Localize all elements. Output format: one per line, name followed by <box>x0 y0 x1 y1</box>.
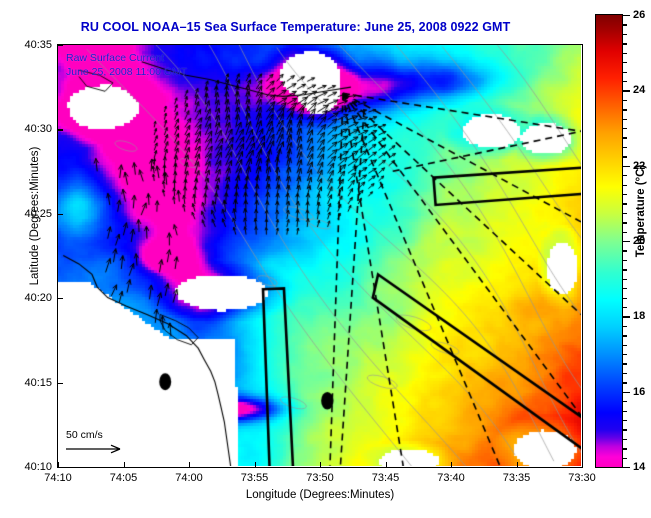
sst-figure: RU COOL NOAA–15 Sea Surface Temperature:… <box>0 0 651 518</box>
colorbar-minor-tick <box>623 90 627 91</box>
x-axis-tick <box>451 462 452 468</box>
colorbar-tick-label: 26 <box>633 9 645 21</box>
figure-title: RU COOL NOAA–15 Sea Surface Temperature:… <box>0 20 591 34</box>
x-axis-tick <box>582 462 583 468</box>
colorbar-minor-tick <box>623 279 627 280</box>
colorbar-minor-tick <box>623 260 627 261</box>
colorbar-minor-tick <box>623 213 627 214</box>
sst-raster <box>58 45 581 466</box>
y-axis-tick <box>57 467 63 468</box>
map-plot-area[interactable]: Raw Surface Current June 25, 2008 11:00 … <box>57 44 583 468</box>
vector-scale-label: 50 cm/s <box>64 429 128 441</box>
y-axis-tick <box>57 45 63 46</box>
x-axis-tick <box>517 462 518 468</box>
colorbar-minor-tick <box>623 109 627 110</box>
x-axis-tick-label: 73:50 <box>306 472 334 484</box>
y-axis-tick-label: 40:20 <box>24 292 52 304</box>
colorbar-minor-tick <box>623 81 627 82</box>
colorbar-minor-tick <box>623 62 627 63</box>
x-axis-tick <box>189 462 190 468</box>
colorbar <box>595 14 623 468</box>
colorbar-minor-tick <box>623 72 627 73</box>
colorbar-minor-tick <box>623 185 627 186</box>
colorbar-minor-tick <box>623 119 627 120</box>
colorbar-minor-tick <box>623 147 627 148</box>
colorbar-minor-tick <box>623 15 627 16</box>
colorbar-minor-tick <box>623 363 627 364</box>
current-stamp-line2: June 25, 2008 11:00 GMT <box>66 65 187 79</box>
x-axis-tick <box>124 462 125 468</box>
colorbar-minor-tick <box>623 203 627 204</box>
colorbar-minor-tick <box>623 128 627 129</box>
colorbar-label: Temperature (°C) <box>635 136 647 286</box>
colorbar-tick-label: 18 <box>633 310 645 322</box>
colorbar-minor-tick <box>623 24 627 25</box>
current-data-stamp: Raw Surface Current June 25, 2008 11:00 … <box>66 51 187 79</box>
colorbar-minor-tick <box>623 100 627 101</box>
x-axis-tick-label: 74:00 <box>175 472 203 484</box>
colorbar-minor-tick <box>623 307 627 308</box>
colorbar-tick-label: 14 <box>633 461 645 473</box>
x-axis-tick-label: 73:55 <box>241 472 269 484</box>
x-axis-tick-label: 73:45 <box>372 472 400 484</box>
sst-field-canvas-wrap <box>58 45 582 467</box>
colorbar-minor-tick <box>623 288 627 289</box>
colorbar-minor-tick <box>623 382 627 383</box>
y-axis-tick <box>57 129 63 130</box>
y-axis-tick-label: 40:10 <box>24 461 52 473</box>
colorbar-minor-tick <box>623 241 627 242</box>
colorbar-minor-tick <box>623 448 627 449</box>
colorbar-minor-tick <box>623 232 627 233</box>
y-axis-tick-label: 40:15 <box>24 377 52 389</box>
colorbar-minor-tick <box>623 326 627 327</box>
colorbar-minor-tick <box>623 137 627 138</box>
y-axis-tick <box>57 214 63 215</box>
colorbar-minor-tick <box>623 354 627 355</box>
colorbar-minor-tick <box>623 175 627 176</box>
x-axis-tick <box>320 462 321 468</box>
vector-scale-arrow-icon <box>64 442 128 455</box>
colorbar-minor-tick <box>623 420 627 421</box>
colorbar-minor-tick <box>623 250 627 251</box>
colorbar-minor-tick <box>623 392 627 393</box>
colorbar-minor-tick <box>623 298 627 299</box>
colorbar-minor-tick <box>623 467 627 468</box>
y-axis-tick-label: 40:30 <box>24 123 52 135</box>
colorbar-minor-tick <box>623 439 627 440</box>
x-axis-tick-label: 74:10 <box>44 472 72 484</box>
y-axis-tick <box>57 383 63 384</box>
colorbar-tick-label: 24 <box>633 84 645 96</box>
colorbar-minor-tick <box>623 458 627 459</box>
colorbar-minor-tick <box>623 401 627 402</box>
colorbar-minor-tick <box>623 34 627 35</box>
colorbar-minor-tick <box>623 411 627 412</box>
colorbar-minor-tick <box>623 269 627 270</box>
colorbar-minor-tick <box>623 373 627 374</box>
current-stamp-line1: Raw Surface Current <box>66 51 187 65</box>
colorbar-tick-label: 22 <box>633 160 645 172</box>
y-axis-tick-label: 40:35 <box>24 39 52 51</box>
x-axis-tick-label: 74:05 <box>110 472 138 484</box>
y-axis-tick <box>57 298 63 299</box>
x-axis-tick <box>386 462 387 468</box>
colorbar-minor-tick <box>623 53 627 54</box>
vector-scale-key: 50 cm/s <box>64 429 128 455</box>
colorbar-tick-label: 16 <box>633 386 645 398</box>
x-axis-tick-label: 73:40 <box>437 472 465 484</box>
colorbar-minor-tick <box>623 429 627 430</box>
colorbar-minor-tick <box>623 345 627 346</box>
x-axis-label: Longitude (Degrees:Minutes) <box>57 489 583 501</box>
colorbar-minor-tick <box>623 156 627 157</box>
x-axis-tick-label: 73:30 <box>568 472 596 484</box>
y-axis-tick-label: 40:25 <box>24 208 52 220</box>
colorbar-minor-tick <box>623 166 627 167</box>
colorbar-minor-tick <box>623 43 627 44</box>
colorbar-minor-tick <box>623 194 627 195</box>
x-axis-tick <box>255 462 256 468</box>
colorbar-minor-tick <box>623 335 627 336</box>
colorbar-minor-tick <box>623 316 627 317</box>
colorbar-tick-label: 20 <box>633 235 645 247</box>
colorbar-minor-tick <box>623 222 627 223</box>
x-axis-tick-label: 73:35 <box>503 472 531 484</box>
